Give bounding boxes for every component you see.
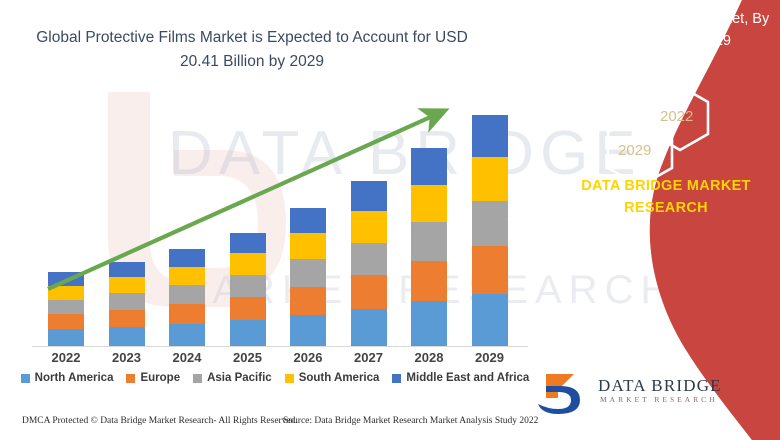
bar-segment-2028-s0	[411, 301, 447, 346]
bar-segment-2027-s4	[351, 181, 387, 211]
legend-item-3[interactable]: South America	[285, 372, 380, 384]
page-title: Global Protective Films Market is Expect…	[26, 26, 478, 74]
x-axis-line	[32, 346, 528, 347]
bar-segment-2028-s1	[411, 261, 447, 301]
x-axis-label-2023: 2023	[97, 350, 157, 365]
x-axis-label-2028: 2028	[399, 350, 459, 365]
bar-segment-2026-s1	[290, 287, 326, 315]
bar-segment-2024-s2	[169, 285, 205, 304]
legend-swatch-icon-3	[285, 374, 294, 383]
bar-segment-2023-s1	[109, 310, 145, 327]
bar-2024[interactable]	[169, 249, 205, 346]
logo-name: DATA BRIDGE	[598, 376, 722, 396]
company-logo: DATA BRIDGE MARKET RESEARCH	[538, 372, 738, 418]
bar-segment-2025-s3	[230, 253, 266, 274]
legend-item-1[interactable]: Europe	[126, 372, 180, 384]
bar-segment-2023-s3	[109, 277, 145, 293]
bar-2028[interactable]	[411, 148, 447, 346]
bar-segment-2022-s1	[48, 314, 84, 329]
x-axis-label-2027: 2027	[339, 350, 399, 365]
chart-legend: North AmericaEuropeAsia PacificSouth Ame…	[20, 372, 530, 384]
legend-swatch-icon-2	[193, 374, 202, 383]
logo-tagline: MARKET RESEARCH	[600, 395, 718, 404]
legend-swatch-icon-1	[126, 374, 135, 383]
x-axis-label-2022: 2022	[36, 350, 96, 365]
hexagon-label-2029: 2029	[618, 142, 651, 159]
bar-2023[interactable]	[109, 262, 145, 346]
chart-plot-area	[20, 95, 530, 347]
bar-segment-2024-s0	[169, 324, 205, 346]
bar-2027[interactable]	[351, 181, 387, 346]
bar-segment-2027-s2	[351, 243, 387, 276]
bar-segment-2022-s4	[48, 272, 84, 286]
hexagon-label-2022: 2022	[660, 108, 693, 125]
bar-segment-2023-s2	[109, 293, 145, 310]
legend-item-2[interactable]: Asia Pacific	[193, 372, 272, 384]
svg-text:RI: RI	[510, 53, 604, 149]
bar-segment-2025-s1	[230, 297, 266, 321]
hexagon-group: 2022 2029	[596, 82, 726, 186]
bar-segment-2027-s3	[351, 211, 387, 242]
footer: DMCA Protected © Data Bridge Market Rese…	[0, 412, 540, 436]
bar-segment-2022-s2	[48, 300, 84, 314]
x-axis-label-2024: 2024	[157, 350, 217, 365]
bar-segment-2028-s2	[411, 222, 447, 261]
bar-segment-2025-s2	[230, 275, 266, 297]
footer-copyright: DMCA Protected © Data Bridge Market Rese…	[22, 416, 298, 426]
bar-segment-2022-s3	[48, 286, 84, 300]
legend-label-1: Europe	[140, 372, 180, 384]
brand-name: DATA BRIDGE MARKET RESEARCH	[560, 176, 772, 220]
infographic-root: DATA BRIDGE MARKET RESEARCH Global Prote…	[0, 0, 780, 440]
x-axis-labels: 20222023202420252026202720282029	[20, 350, 530, 370]
logo-mark-icon	[538, 372, 596, 416]
bar-segment-2023-s4	[109, 262, 145, 277]
bar-2025[interactable]	[230, 233, 266, 346]
bar-2022[interactable]	[48, 272, 84, 346]
legend-label-3: South America	[299, 372, 380, 384]
legend-swatch-icon-4	[392, 374, 401, 383]
right-panel-title: Global Protective Films Market, By Regio…	[544, 8, 772, 53]
bar-segment-2022-s0	[48, 329, 84, 346]
bar-segment-2025-s4	[230, 233, 266, 254]
bar-2026[interactable]	[290, 208, 326, 346]
bar-segment-2026-s3	[290, 233, 326, 259]
bar-segment-2023-s0	[109, 327, 145, 346]
bar-segment-2026-s0	[290, 315, 326, 346]
bar-segment-2024-s3	[169, 267, 205, 285]
bar-segment-2028-s4	[411, 148, 447, 185]
legend-swatch-icon-0	[21, 374, 30, 383]
bar-segment-2027-s1	[351, 275, 387, 308]
legend-item-0[interactable]: North America	[21, 372, 114, 384]
bar-segment-2028-s3	[411, 185, 447, 222]
bar-segment-2026-s2	[290, 259, 326, 286]
bar-segment-2024-s4	[169, 249, 205, 266]
bar-segment-2025-s0	[230, 320, 266, 346]
bar-segment-2027-s0	[351, 309, 387, 346]
legend-label-2: Asia Pacific	[207, 372, 272, 384]
x-axis-label-2025: 2025	[218, 350, 278, 365]
x-axis-label-2026: 2026	[278, 350, 338, 365]
legend-label-0: North America	[35, 372, 114, 384]
bar-segment-2024-s1	[169, 304, 205, 324]
bar-segment-2026-s4	[290, 208, 326, 233]
